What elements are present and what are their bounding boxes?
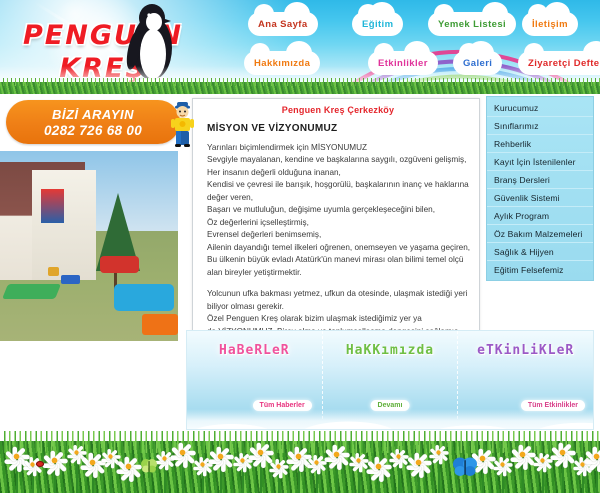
sidebar-item-kurucumuz[interactable]: Kurucumuz [487, 99, 593, 117]
daisy-flower-icon [555, 445, 570, 460]
site-footer [0, 430, 600, 493]
nav-label: Eğitim [362, 19, 393, 30]
bottom-panels: HaBeRLeR Tüm Haberler HaKKımızda Devamı … [186, 330, 594, 430]
snow-decoration [186, 409, 594, 430]
sidebar-item-saglik-hijyen[interactable]: Sağlık & Hijyen [487, 243, 593, 261]
daisy-flower-icon [71, 447, 82, 458]
butterfly-green-icon [140, 459, 158, 473]
call-us-phone: 0282 726 68 00 [44, 123, 142, 138]
daisy-flower-icon [291, 449, 306, 464]
call-us-box[interactable]: BİZİ ARAYIN 0282 726 68 00 [6, 100, 180, 144]
daisy-flower-icon [9, 449, 24, 464]
daisy-flower-icon [311, 457, 322, 468]
nav-item-yemek-listesi[interactable]: Yemek Listesi [428, 12, 516, 36]
daisy-flower-icon [411, 455, 426, 470]
daisy-flower-icon [253, 445, 268, 460]
sidebar-item-kayit-icin-istenilenler[interactable]: Kayıt İçin İstenilenler [487, 153, 593, 171]
daisy-flower-icon [213, 449, 228, 464]
sidebar-item-egitim-felsefemiz[interactable]: Eğitim Felsefemiz [487, 261, 593, 278]
call-us-title: BİZİ ARAYIN [52, 107, 134, 122]
daisy-flower-icon [105, 451, 116, 462]
sidebar-item-oz-bakim-malzemeleri[interactable]: Öz Bakım Malzemeleri [487, 225, 593, 243]
daisy-flower-icon [175, 445, 190, 460]
daisy-flower-icon [353, 455, 364, 466]
daisy-flower-icon [159, 453, 170, 464]
daisy-flower-icon [329, 447, 344, 462]
sidebar-item-guvenlik-sistemi[interactable]: Güvenlik Sistemi [487, 189, 593, 207]
nav-label: Ziyaretçi Defteri [528, 58, 600, 69]
page-root: PENGUEN KREŞ Ana Sayfa Eğitim Yemek List… [0, 0, 600, 493]
nav-item-ana-sayfa[interactable]: Ana Sayfa [248, 12, 318, 36]
sidebar-item-siniflarimiz[interactable]: Sınıflarımız [487, 117, 593, 135]
nav-item-egitim[interactable]: Eğitim [352, 12, 403, 36]
page-title: Penguen Kreş Çerkezköy [205, 105, 471, 115]
section-title: MİSYON VE VİZYONUMUZ [207, 123, 471, 134]
panel-title: HaKKımızda [323, 343, 458, 358]
boy-mascot-icon [168, 100, 196, 150]
left-column: BİZİ ARAYIN 0282 726 68 00 [0, 94, 186, 341]
nav-label: Galeri [463, 58, 492, 69]
ladybug-icon [36, 461, 44, 467]
daisy-flower-icon [47, 453, 62, 468]
school-photo [0, 151, 178, 341]
butterfly-blue-icon [452, 457, 478, 477]
daisy-flower-icon [433, 447, 444, 458]
daisy-flower-icon [121, 459, 136, 474]
sidebar-item-aylik-program[interactable]: Aylık Program [487, 207, 593, 225]
nav-label: Etkinlikler [378, 58, 428, 69]
sidebar-item-brans-dersleri[interactable]: Branş Dersleri [487, 171, 593, 189]
mission-paragraph: Yarınları biçimlendirmek için MİSYONUMUZ… [207, 142, 471, 279]
grass-divider [0, 82, 600, 94]
nav-label: Yemek Listesi [438, 19, 506, 30]
daisy-flower-icon [589, 449, 600, 464]
panel-title: eTKinLiKLeR [458, 343, 593, 358]
daisy-flower-icon [371, 459, 386, 474]
daisy-flower-icon [237, 455, 248, 466]
daisy-flower-icon [273, 461, 284, 472]
main-content-panel: Penguen Kreş Çerkezköy MİSYON VE VİZYONU… [192, 98, 480, 362]
nav-label: Hakkımızda [254, 58, 310, 69]
nav-label: İletişim [532, 19, 568, 30]
nav-label: Ana Sayfa [258, 19, 308, 30]
daisy-flower-icon [85, 455, 100, 470]
daisy-flower-icon [537, 455, 548, 466]
daisy-flower-icon [515, 447, 530, 462]
sidebar-menu: Kurucumuz Sınıflarımız Rehberlik Kayıt İ… [486, 96, 594, 281]
daisy-flower-icon [497, 459, 508, 470]
nav-item-iletisim[interactable]: İletişim [522, 12, 578, 36]
panel-title: HaBeRLeR [187, 343, 322, 358]
daisy-flower-icon [197, 459, 208, 470]
daisy-flower-icon [393, 451, 404, 462]
sidebar-item-rehberlik[interactable]: Rehberlik [487, 135, 593, 153]
